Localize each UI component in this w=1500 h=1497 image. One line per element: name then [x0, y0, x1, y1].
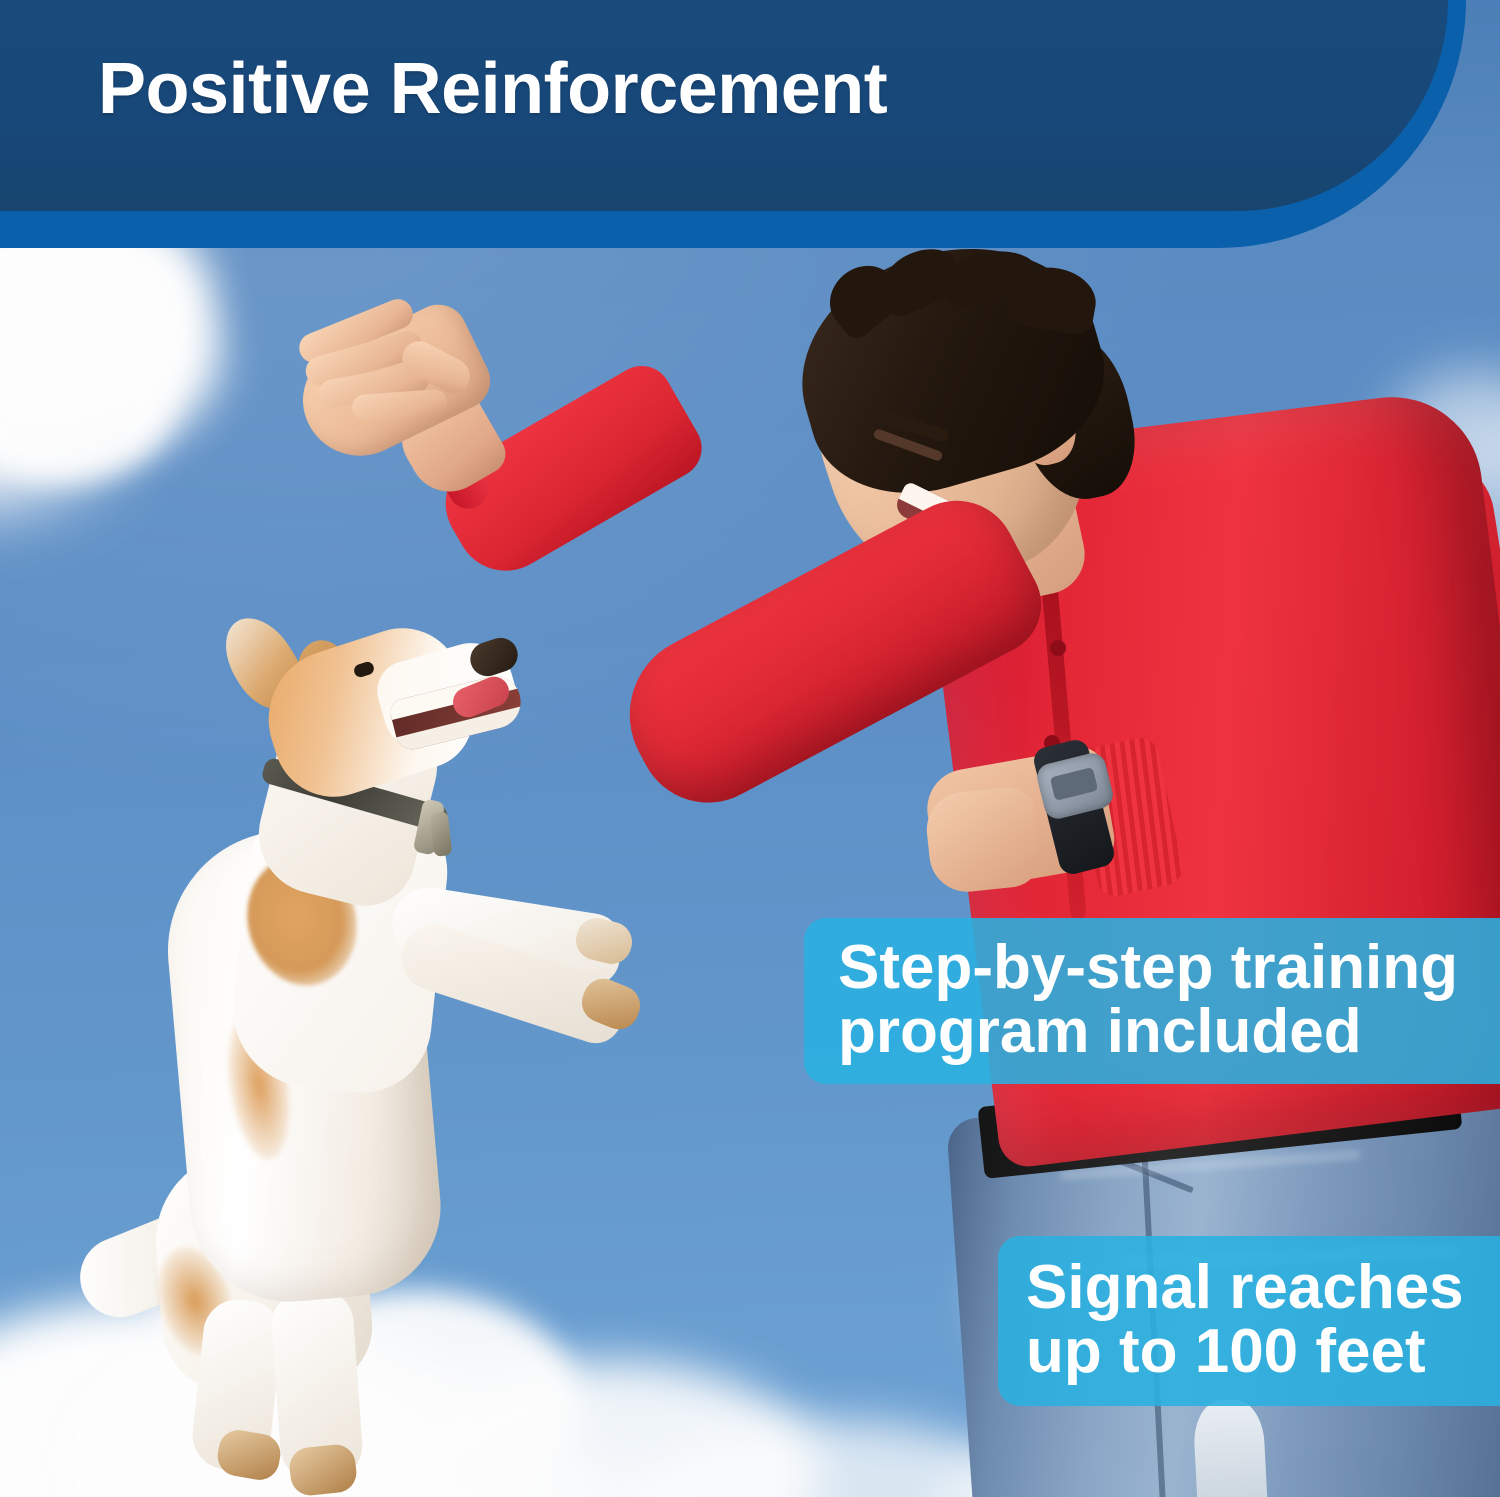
product-feature-panel: Step-by-step training program included S… — [0, 0, 1500, 1497]
header-banner: Positive Reinforcement — [0, 0, 1500, 250]
callout-line: program included — [838, 1000, 1490, 1064]
dog-collar-tag — [430, 811, 453, 857]
header-background — [0, 0, 1448, 211]
callout-line: Step-by-step training — [838, 936, 1490, 1000]
callout-line: up to 100 feet — [1026, 1320, 1490, 1384]
callout-training-program: Step-by-step training program included — [804, 918, 1500, 1084]
callout-signal-range: Signal reaches up to 100 feet — [998, 1236, 1500, 1406]
callout-line: Signal reaches — [1026, 1256, 1490, 1320]
dog-paw — [214, 1427, 283, 1483]
dog-paw — [288, 1443, 359, 1497]
